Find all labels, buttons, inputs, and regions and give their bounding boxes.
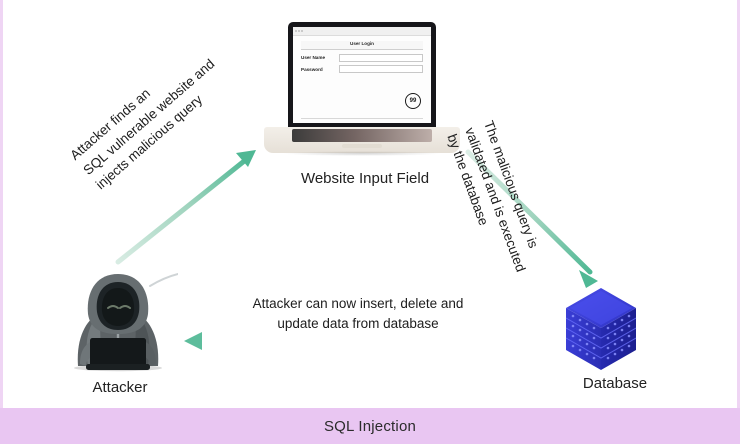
database-icon <box>556 282 646 374</box>
laptop-trackpad <box>342 144 382 148</box>
node-label-database: Database <box>525 375 705 392</box>
browser-dot <box>295 30 297 32</box>
node-label-attacker: Attacker <box>40 379 200 396</box>
arrow-database-to-attacker <box>184 332 540 350</box>
edge-label-database-to-attacker: Attacker can now insert, delete and upda… <box>213 294 503 335</box>
browser-dot <box>301 30 303 32</box>
title-banner: SQL Injection <box>0 408 740 444</box>
browser-chrome-bar <box>293 27 431 36</box>
username-row: User Name <box>301 54 423 62</box>
banner-title: SQL Injection <box>324 418 416 435</box>
password-row: Password <box>301 65 423 73</box>
password-label: Password <box>301 67 335 72</box>
laptop-lid: User Login User Name Password 99 <box>288 22 436 130</box>
arrow-attacker-to-website <box>118 150 256 262</box>
form-divider <box>301 118 423 119</box>
laptop-base <box>264 127 460 153</box>
username-label: User Name <box>301 55 335 60</box>
laptop-keyboard <box>292 129 432 142</box>
browser-dot <box>298 30 300 32</box>
laptop-screen: User Login User Name Password 99 <box>293 27 431 123</box>
laptop-icon: User Login User Name Password 99 <box>264 22 460 162</box>
edge-label-line: Attacker can now insert, delete and <box>213 294 503 314</box>
node-label-website: Website Input Field <box>255 170 475 187</box>
password-input[interactable] <box>339 65 423 73</box>
laptop-shadow <box>282 151 442 156</box>
edge-label-line: update data from database <box>213 314 503 334</box>
username-input[interactable] <box>339 54 423 62</box>
hacker-icon <box>58 268 178 376</box>
diagram-canvas: User Login User Name Password 99 Website… <box>0 0 740 444</box>
login-form-title: User Login <box>301 41 423 50</box>
stamp-icon: 99 <box>405 93 421 109</box>
